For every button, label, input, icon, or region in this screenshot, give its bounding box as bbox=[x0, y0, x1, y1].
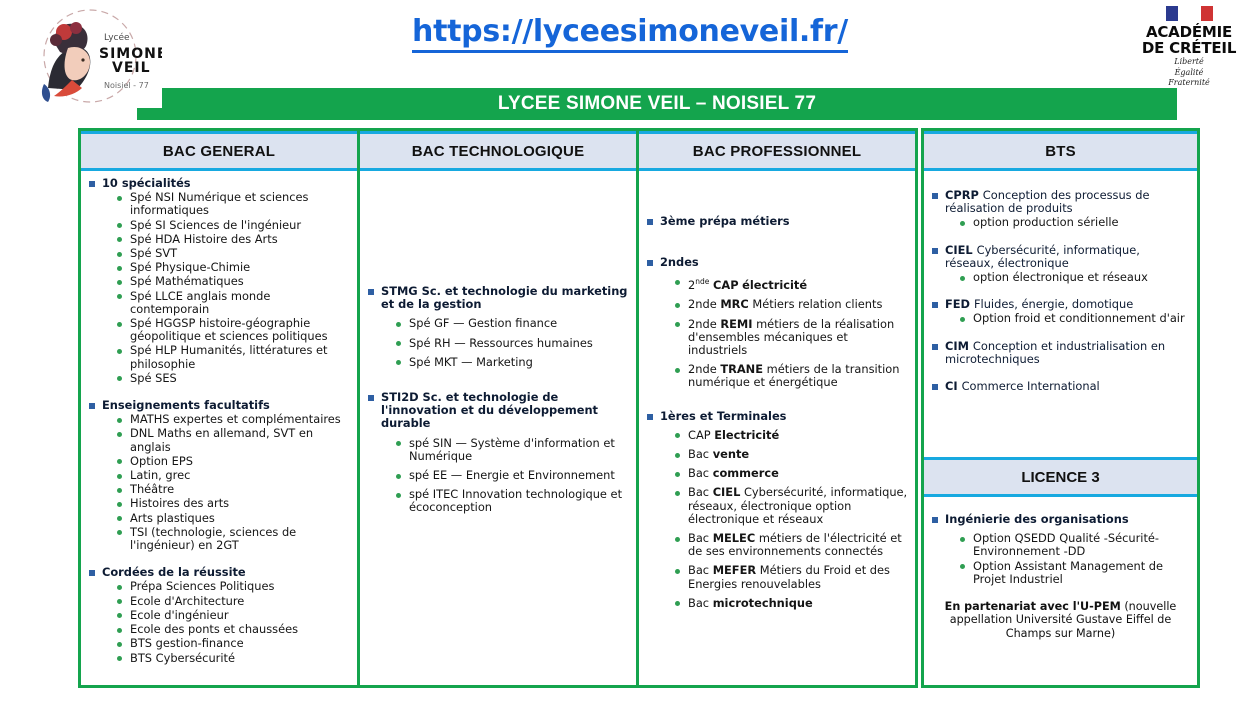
page-title: LYCEE SIMONE VEIL – NOISIEL 77 bbox=[498, 93, 816, 115]
list-item: Spé SI Sciences de l'ingénieur bbox=[116, 219, 351, 232]
bts-licence-group: BTS CPRP Conception des processus de réa… bbox=[921, 128, 1200, 688]
page-title-bar: LYCEE SIMONE VEIL – NOISIEL 77 bbox=[137, 88, 1177, 120]
sub-list: Spé NSI Numérique et sciences informatiq… bbox=[102, 191, 351, 385]
group-3eme-prepa-metiers: 3ème prépa métiers bbox=[645, 215, 909, 228]
group-title: 10 spécialités bbox=[102, 176, 191, 190]
list-item: spé EE — Energie et Environnement bbox=[395, 469, 630, 482]
list-item: BTS Cybersécurité bbox=[116, 652, 351, 665]
group-title: CIM Conception et industrialisation en m… bbox=[945, 339, 1165, 366]
sub-list: option production sérielle bbox=[945, 216, 1191, 229]
sub-list: 2nde CAP électricité 2nde MRC Métiers re… bbox=[660, 275, 909, 389]
partnership-note: En partenariat avec l'U-PEM (nouvelle ap… bbox=[930, 600, 1191, 640]
list-item: Latin, grec bbox=[116, 469, 351, 482]
list-item: spé ITEC Innovation technologique et éco… bbox=[395, 488, 630, 514]
list-item: Spé GF — Gestion finance bbox=[395, 317, 630, 330]
page-header: Lycée SIMONE VEIL Noisiel - 77 https://l… bbox=[0, 0, 1260, 88]
column-title: BAC TECHNOLOGIQUE bbox=[412, 143, 585, 160]
list-item: option production sérielle bbox=[959, 216, 1191, 229]
group-cprp: CPRP Conception des processus de réalisa… bbox=[930, 189, 1191, 230]
list-item: TSI (technologie, sciences de l'ingénieu… bbox=[116, 526, 351, 552]
column-bac-professionnel: BAC PROFESSIONNEL 3ème prépa métiers 2nd… bbox=[636, 131, 915, 685]
list-item: Spé HDA Histoire des Arts bbox=[116, 233, 351, 246]
sub-list: CAP Electricité Bac vente Bac commerce B… bbox=[660, 429, 909, 610]
list-item: Spé HLP Humanités, littératures et philo… bbox=[116, 344, 351, 370]
group-enseignements-facultatifs: Enseignements facultatifs MATHS expertes… bbox=[87, 399, 351, 552]
column-body-licence3: Ingénierie des organisations Option QSED… bbox=[924, 497, 1197, 685]
site-url-text: https://lyceesimoneveil.fr/ bbox=[412, 14, 848, 53]
list-item: Spé LLCE anglais monde contemporain bbox=[116, 290, 351, 316]
column-title: LICENCE 3 bbox=[1021, 469, 1099, 486]
group-cordees-de-la-reussite: Cordées de la réussite Prépa Sciences Po… bbox=[87, 566, 351, 664]
list-item: Bac MELEC métiers de l'électricité et de… bbox=[674, 532, 909, 558]
group-title: CIEL Cybersécurité, informatique, réseau… bbox=[945, 243, 1140, 270]
sub-list: Prépa Sciences Politiques Ecole d'Archit… bbox=[102, 580, 351, 664]
list-item: Ecole d'ingénieur bbox=[116, 609, 351, 622]
list-item: Spé Mathématiques bbox=[116, 275, 351, 288]
group-title: STI2D Sc. et technologie de l'innovation… bbox=[381, 390, 598, 430]
sub-list: Option froid et conditionnement d'air bbox=[945, 312, 1191, 325]
column-body-bac-technologique: STMG Sc. et technologie du marketing et … bbox=[360, 171, 636, 685]
group-ci: CI Commerce International bbox=[930, 380, 1191, 393]
list-item: Option froid et conditionnement d'air bbox=[959, 312, 1191, 325]
group-list: STMG Sc. et technologie du marketing et … bbox=[366, 285, 630, 515]
devise-egalite: Égalité bbox=[1126, 69, 1252, 78]
list-item: Spé Physique-Chimie bbox=[116, 261, 351, 274]
column-header-bts: BTS bbox=[924, 131, 1197, 171]
group-sti2d: STI2D Sc. et technologie de l'innovation… bbox=[366, 391, 630, 515]
column-title: BAC PROFESSIONNEL bbox=[693, 143, 861, 160]
offer-board: BAC GENERAL 10 spécialités Spé NSI Numér… bbox=[78, 128, 1200, 688]
site-url-link[interactable]: https://lyceesimoneveil.fr/ bbox=[0, 14, 1260, 49]
group-title: Enseignements facultatifs bbox=[102, 398, 270, 412]
list-item: CAP Electricité bbox=[674, 429, 909, 442]
list-item: Prépa Sciences Politiques bbox=[116, 580, 351, 593]
list-item: Spé RH — Ressources humaines bbox=[395, 337, 630, 350]
sub-list: Spé GF — Gestion finance Spé RH — Ressou… bbox=[381, 317, 630, 369]
group-2ndes: 2ndes 2nde CAP électricité 2nde MRC Méti… bbox=[645, 256, 909, 389]
devise-liberte: Liberté bbox=[1126, 58, 1252, 67]
list-item: Spé SES bbox=[116, 372, 351, 385]
sub-list: MATHS expertes et complémentaires DNL Ma… bbox=[102, 413, 351, 552]
list-item: Option EPS bbox=[116, 455, 351, 468]
group-cim: CIM Conception et industrialisation en m… bbox=[930, 340, 1191, 366]
column-header-bac-technologique: BAC TECHNOLOGIQUE bbox=[360, 131, 636, 171]
column-title: BTS bbox=[1045, 143, 1076, 160]
list-item: Histoires des arts bbox=[116, 497, 351, 510]
list-item: Arts plastiques bbox=[116, 512, 351, 525]
french-flag-icon bbox=[1126, 6, 1252, 21]
list-item: MATHS expertes et complémentaires bbox=[116, 413, 351, 426]
list-item: option électronique et réseaux bbox=[959, 271, 1191, 284]
list-item: Option QSEDD Qualité -Sécurité-Environne… bbox=[959, 532, 1191, 558]
column-bac-general: BAC GENERAL 10 spécialités Spé NSI Numér… bbox=[81, 131, 357, 685]
list-item: Option Assistant Management de Projet In… bbox=[959, 560, 1191, 586]
column-header-licence3: LICENCE 3 bbox=[924, 457, 1197, 497]
column-title: BAC GENERAL bbox=[163, 143, 275, 160]
group-list: Ingénierie des organisations Option QSED… bbox=[930, 513, 1191, 586]
bac-columns-group: BAC GENERAL 10 spécialités Spé NSI Numér… bbox=[78, 128, 918, 688]
group-list: 10 spécialités Spé NSI Numérique et scie… bbox=[87, 177, 351, 665]
list-item: Spé HGGSP histoire-géographie géopolitiq… bbox=[116, 317, 351, 343]
lycee-simone-veil-logo: Lycée SIMONE VEIL Noisiel - 77 bbox=[20, 4, 162, 108]
list-item: 2nde CAP électricité bbox=[674, 275, 909, 292]
svg-text:VEIL: VEIL bbox=[112, 60, 151, 76]
svg-text:Lycée: Lycée bbox=[104, 32, 130, 43]
group-title: CPRP Conception des processus de réalisa… bbox=[945, 188, 1149, 215]
list-item: 2nde REMI métiers de la réalisation d'en… bbox=[674, 318, 909, 358]
list-item: Bac microtechnique bbox=[674, 597, 909, 610]
academie-de-creteil-logo: ACADÉMIE DE CRÉTEIL Liberté Égalité Frat… bbox=[1126, 6, 1252, 90]
group-title: 1ères et Terminales bbox=[660, 409, 786, 423]
list-item: Bac vente bbox=[674, 448, 909, 461]
group-list: 3ème prépa métiers 2ndes 2nde CAP électr… bbox=[645, 215, 909, 610]
sub-list: spé SIN — Système d'information et Numér… bbox=[381, 437, 630, 515]
group-title: FED Fluides, énergie, domotique bbox=[945, 297, 1133, 311]
svg-text:Noisiel - 77: Noisiel - 77 bbox=[104, 81, 149, 90]
list-item: Bac commerce bbox=[674, 467, 909, 480]
list-item: Bac MEFER Métiers du Froid et des Energi… bbox=[674, 564, 909, 590]
column-body-bts: CPRP Conception des processus de réalisa… bbox=[924, 171, 1197, 453]
academie-line-2: DE CRÉTEIL bbox=[1126, 40, 1252, 56]
column-header-bac-general: BAC GENERAL bbox=[81, 131, 357, 171]
list-item: Spé NSI Numérique et sciences informatiq… bbox=[116, 191, 351, 217]
column-bac-technologique: BAC TECHNOLOGIQUE STMG Sc. et technologi… bbox=[357, 131, 636, 685]
partnership-bold: En partenariat avec l'U-PEM bbox=[945, 600, 1121, 613]
list-item: BTS gestion-finance bbox=[116, 637, 351, 650]
group-title: Ingénierie des organisations bbox=[945, 512, 1129, 526]
group-10-specialites: 10 spécialités Spé NSI Numérique et scie… bbox=[87, 177, 351, 385]
spacer bbox=[366, 177, 630, 285]
column-header-bac-professionnel: BAC PROFESSIONNEL bbox=[639, 131, 915, 171]
group-stmg: STMG Sc. et technologie du marketing et … bbox=[366, 285, 630, 369]
list-item: 2nde MRC Métiers relation clients bbox=[674, 298, 909, 311]
devise-fraternite: Fraternité bbox=[1126, 79, 1252, 88]
group-list: CPRP Conception des processus de réalisa… bbox=[930, 189, 1191, 393]
list-item: Bac CIEL Cybersécurité, informatique, ré… bbox=[674, 486, 909, 526]
spacer bbox=[645, 177, 909, 215]
group-title: 3ème prépa métiers bbox=[660, 214, 790, 228]
sub-list: Option QSEDD Qualité -Sécurité-Environne… bbox=[945, 532, 1191, 586]
list-item: 2nde TRANE métiers de la transition numé… bbox=[674, 363, 909, 389]
list-item: Ecole des ponts et chaussées bbox=[116, 623, 351, 636]
list-item: Ecole d'Architecture bbox=[116, 595, 351, 608]
group-title: STMG Sc. et technologie du marketing et … bbox=[381, 284, 627, 311]
list-item: Théâtre bbox=[116, 483, 351, 496]
list-item: spé SIN — Système d'information et Numér… bbox=[395, 437, 630, 463]
list-item: Spé MKT — Marketing bbox=[395, 356, 630, 369]
group-title: 2ndes bbox=[660, 255, 699, 269]
group-ciel: CIEL Cybersécurité, informatique, réseau… bbox=[930, 244, 1191, 285]
list-item: Spé SVT bbox=[116, 247, 351, 260]
sub-list: option électronique et réseaux bbox=[945, 271, 1191, 284]
list-item: DNL Maths en allemand, SVT en anglais bbox=[116, 427, 351, 453]
group-title: CI Commerce International bbox=[945, 379, 1100, 393]
group-1eres-et-terminales: 1ères et Terminales CAP Electricité Bac … bbox=[645, 410, 909, 610]
group-ingenierie-des-organisations: Ingénierie des organisations Option QSED… bbox=[930, 513, 1191, 586]
group-fed: FED Fluides, énergie, domotique Option f… bbox=[930, 298, 1191, 325]
academie-line-1: ACADÉMIE bbox=[1126, 24, 1252, 40]
group-title: Cordées de la réussite bbox=[102, 565, 246, 579]
column-body-bac-general: 10 spécialités Spé NSI Numérique et scie… bbox=[81, 171, 357, 685]
column-body-bac-professionnel: 3ème prépa métiers 2ndes 2nde CAP électr… bbox=[639, 171, 915, 685]
